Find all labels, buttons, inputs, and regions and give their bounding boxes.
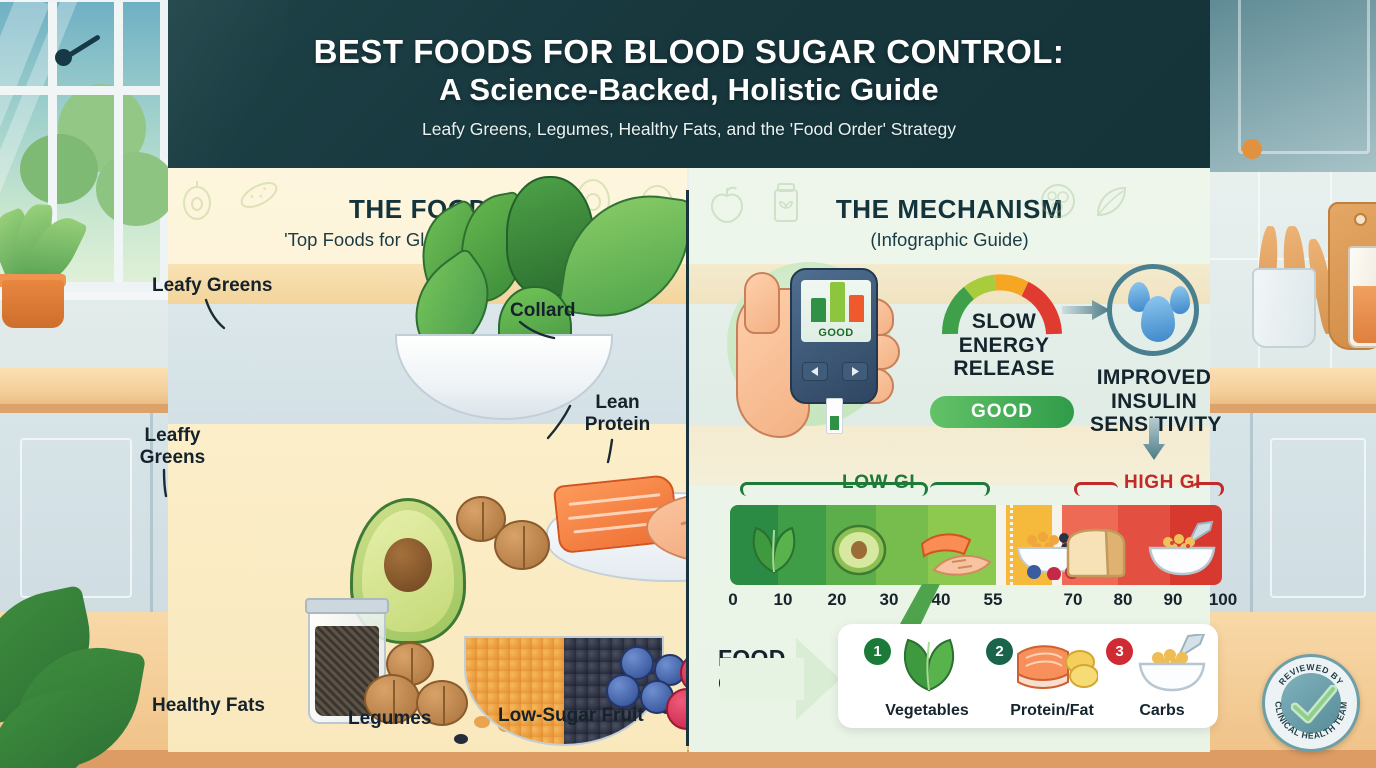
- infographic-canvas: BEST FOODS FOR BLOOD SUGAR CONTROL: A Sc…: [0, 0, 1376, 768]
- food-order-step-number-1: 1: [864, 638, 891, 665]
- label-low-sugar-fruit: Low-Sugar Fruit: [498, 705, 644, 727]
- right-panel-heading: THE MECHANISM (Infographic Guide): [689, 194, 1210, 251]
- gi-tick: 0: [720, 590, 746, 610]
- gi-tick: 10: [768, 590, 798, 610]
- apple-outline-icon: [709, 184, 745, 224]
- cabinet-seam: [1250, 413, 1253, 620]
- meter-bar-1: [811, 298, 826, 322]
- gi-food-spinach: [742, 518, 806, 579]
- status-pill-good: GOOD: [930, 396, 1074, 428]
- utensil-crock: [1252, 268, 1316, 348]
- window-bush: [20, 134, 98, 204]
- food-order-label-2: Protein/Fat: [978, 702, 1126, 720]
- arrow-down-icon: [1143, 418, 1165, 460]
- salmon-egg-icon: [1014, 640, 1098, 697]
- badge-top-text: REVIEWED BY: [1277, 662, 1346, 687]
- cereal-bowl-icon: [1134, 634, 1210, 697]
- gi-tick: 100: [1204, 590, 1242, 610]
- cabinet-panel: [1270, 438, 1366, 598]
- cutting-board-hole: [1354, 213, 1367, 226]
- gi-tick: 20: [822, 590, 852, 610]
- glucose-meter[interactable]: GOOD: [790, 268, 878, 404]
- food-order-step-number-3: 3: [1106, 638, 1133, 665]
- right-panel-title: THE MECHANISM: [689, 194, 1210, 225]
- meter-bar-3: [849, 295, 864, 322]
- supplement-jar-outline-icon: [771, 182, 801, 224]
- label-collard: Collard: [510, 300, 575, 322]
- cabinet-panel: [20, 438, 132, 598]
- label-healthy-fats: Healthy Fats: [152, 695, 265, 717]
- blueberry: [606, 674, 640, 708]
- spice-jar: [1348, 246, 1376, 348]
- spinach-icon: [892, 634, 966, 697]
- gi-food-avocado: [830, 524, 888, 581]
- meter-left-button[interactable]: [802, 362, 828, 381]
- svg-text:REVIEWED BY: REVIEWED BY: [1277, 662, 1346, 687]
- walnut: [494, 520, 550, 570]
- gi-tick: 80: [1108, 590, 1138, 610]
- gi-gap: [996, 505, 1006, 585]
- floor-base-band: [0, 750, 1376, 768]
- label-lean-protein: Lean Protein: [570, 392, 665, 436]
- avocado-outline-icon: [180, 178, 214, 220]
- broccoli-outline-icon: [1039, 182, 1077, 220]
- header-banner: BEST FOODS FOR BLOOD SUGAR CONTROL: A Sc…: [168, 0, 1210, 168]
- low-gi-label: LOW GI: [842, 472, 915, 494]
- leaf-outline-icon: [1093, 184, 1129, 220]
- page-subtitle: Leafy Greens, Legumes, Healthy Fats, and…: [422, 119, 956, 140]
- arrow-right-icon: [1062, 300, 1110, 320]
- page-title-line1: BEST FOODS FOR BLOOD SUGAR CONTROL:: [314, 34, 1065, 70]
- gi-food-protein: [920, 528, 994, 583]
- gi-tick: 70: [1058, 590, 1088, 610]
- plant-pot: [2, 280, 64, 328]
- meter-reading: GOOD: [801, 327, 871, 339]
- label-legumes: Legumes: [348, 708, 431, 730]
- droplet-small: [1170, 286, 1190, 314]
- high-gi-label: HIGH GI: [1124, 472, 1201, 494]
- window-mullion: [114, 2, 123, 282]
- gi-tick: 90: [1158, 590, 1188, 610]
- meter-bar-2: [830, 282, 845, 322]
- lentils: [466, 638, 564, 744]
- label-leafy-greens-top: Leafy Greens: [152, 275, 272, 297]
- gauge-hub: [55, 49, 72, 66]
- window-bush: [96, 152, 176, 226]
- test-strip: [826, 398, 843, 434]
- window-mullion: [0, 86, 160, 95]
- left-panel-the-foods: THE FOODS 'Top Foods for Glucose Regulat…: [168, 168, 687, 752]
- low-gi-bracket-right: [930, 482, 990, 496]
- spice-contents: [1353, 286, 1376, 343]
- upper-cabinet-panel: [1238, 0, 1370, 154]
- food-order-card: 1 Vegetables 2 Protein/Fat 3 Carbs: [838, 624, 1218, 728]
- gi-food-cereal-bowl: [1142, 520, 1222, 585]
- meter-right-button[interactable]: [842, 362, 868, 381]
- food-order-label-3: Carbs: [1110, 702, 1214, 720]
- checkmark-icon: [1291, 685, 1337, 727]
- gi-food-white-bread: [1062, 524, 1132, 585]
- high-gi-bracket-right: [1192, 482, 1224, 496]
- cabinet-knob: [1242, 139, 1262, 159]
- hand-thumb: [744, 272, 780, 334]
- slow-energy-release-text: SLOW ENERGY RELEASE: [938, 310, 1070, 381]
- right-panel-subtitle: (Infographic Guide): [689, 229, 1210, 251]
- avocado-pit: [384, 538, 432, 592]
- label-leaffy-greens: Leaffy Greens: [125, 425, 220, 469]
- chia-jar-lid: [305, 598, 389, 614]
- page-title-line2: A Science-Backed, Holistic Guide: [439, 71, 939, 108]
- reviewed-by-badge: REVIEWED BY CLINICAL HEALTH TEAM: [1262, 654, 1360, 752]
- high-gi-bracket-left: [1074, 482, 1118, 496]
- food-order-arrow-icon: [700, 624, 840, 734]
- meter-screen: GOOD: [801, 280, 871, 342]
- food-order-step-number-2: 2: [986, 638, 1013, 665]
- black-bean: [454, 734, 468, 744]
- gi-tick: 55: [978, 590, 1008, 610]
